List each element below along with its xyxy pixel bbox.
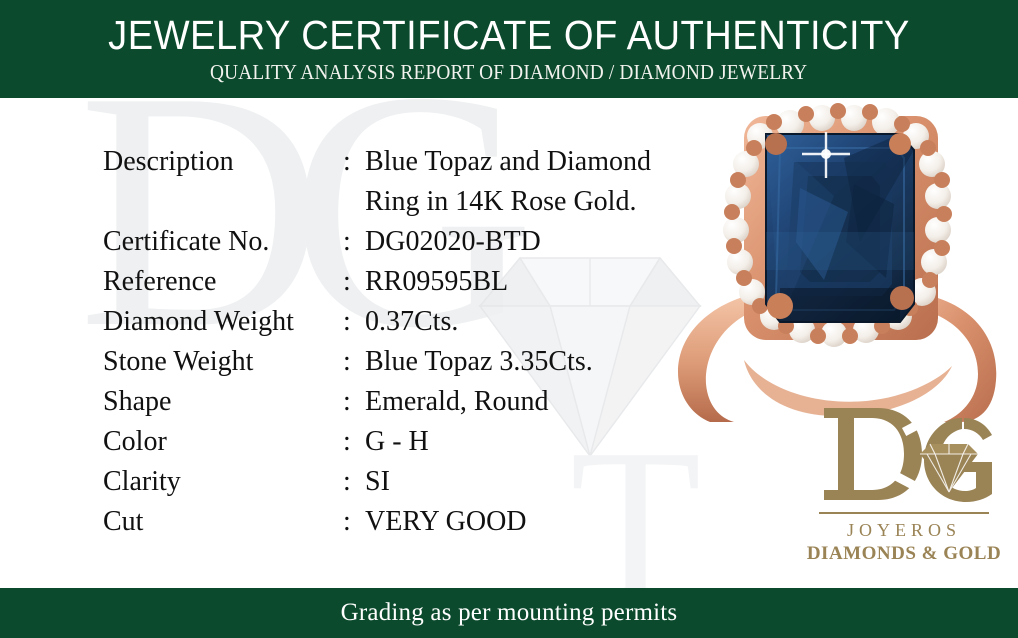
brand-name: JOYEROS [806, 520, 1002, 540]
ring-photo [648, 92, 1018, 422]
detail-label: Reference [103, 262, 343, 302]
detail-separator: : [343, 262, 365, 302]
detail-label: Color [103, 422, 343, 462]
detail-row-color: Color : G - H [103, 422, 651, 462]
detail-separator: : [343, 142, 365, 182]
detail-separator: : [343, 342, 365, 382]
detail-value: RR09595BL [365, 262, 508, 302]
detail-separator: : [343, 222, 365, 262]
brand-tagline: DIAMONDS & GOLD [806, 543, 1002, 564]
detail-separator: : [343, 502, 365, 542]
brand-divider [819, 512, 989, 514]
detail-value: Blue Topaz and Diamond Ring in 14K Rose … [365, 142, 651, 222]
detail-separator: : [343, 462, 365, 502]
detail-row-certificate-no: Certificate No. : DG02020-BTD [103, 222, 651, 262]
detail-value: Emerald, Round [365, 382, 549, 422]
certificate-details: Description : Blue Topaz and Diamond Rin… [103, 142, 651, 542]
detail-value: Blue Topaz 3.35Cts. [365, 342, 593, 382]
detail-label: Clarity [103, 462, 343, 502]
detail-label: Description [103, 142, 343, 182]
detail-value: G - H [365, 422, 429, 462]
detail-row-reference: Reference : RR09595BL [103, 262, 651, 302]
detail-row-clarity: Clarity : SI [103, 462, 651, 502]
certificate-subtitle: QUALITY ANALYSIS REPORT OF DIAMOND / DIA… [210, 59, 807, 85]
detail-row-cut: Cut : VERY GOOD [103, 502, 651, 542]
footer-note: Grading as per mounting permits [341, 599, 678, 627]
detail-separator: : [343, 302, 365, 342]
certificate-header: JEWELRY CERTIFICATE OF AUTHENTICITY QUAL… [0, 0, 1018, 98]
center-blue-topaz [765, 132, 916, 322]
detail-value: 0.37Cts. [365, 302, 458, 342]
dg-monogram [806, 402, 1002, 510]
certificate-title: JEWELRY CERTIFICATE OF AUTHENTICITY [108, 13, 910, 57]
detail-row-diamond-weight: Diamond Weight : 0.37Cts. [103, 302, 651, 342]
detail-separator: : [343, 422, 365, 462]
brand-logo: JOYEROS DIAMONDS & GOLD [806, 402, 1002, 574]
detail-row-shape: Shape : Emerald, Round [103, 382, 651, 422]
detail-value: VERY GOOD [365, 502, 527, 542]
detail-value: SI [365, 462, 390, 502]
detail-row-description: Description : Blue Topaz and Diamond Rin… [103, 142, 651, 222]
detail-separator: : [343, 382, 365, 422]
detail-label: Stone Weight [103, 342, 343, 382]
detail-label: Shape [103, 382, 343, 422]
certificate-footer: Grading as per mounting permits [0, 588, 1018, 638]
detail-label: Diamond Weight [103, 302, 343, 342]
detail-value: DG02020-BTD [365, 222, 541, 262]
detail-label: Cut [103, 502, 343, 542]
detail-label: Certificate No. [103, 222, 343, 262]
detail-row-stone-weight: Stone Weight : Blue Topaz 3.35Cts. [103, 342, 651, 382]
detail-value-line1: Blue Topaz and Diamond [365, 142, 651, 182]
jewelry-certificate: DG T [0, 0, 1018, 638]
dg-monogram-icon [806, 402, 1002, 510]
detail-value-line2: Ring in 14K Rose Gold. [365, 182, 651, 222]
